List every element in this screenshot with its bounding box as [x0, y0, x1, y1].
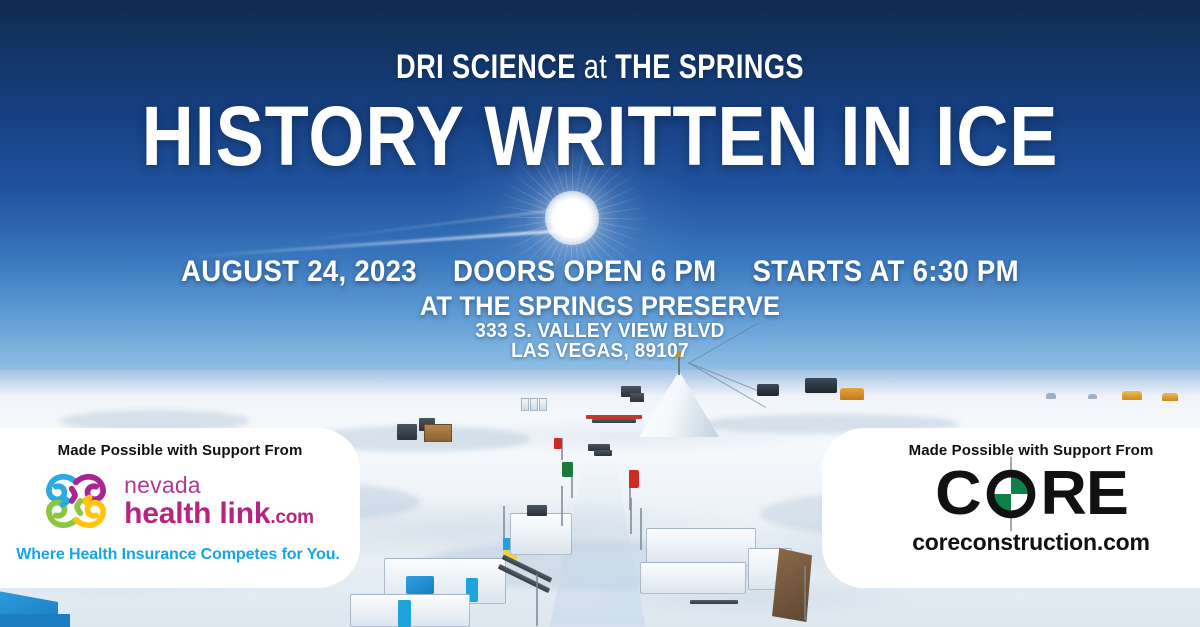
eyebrow-secondary: THE SPRINGS [615, 48, 804, 86]
support-label-right: Made Possible with Support From [822, 428, 1200, 459]
eyebrow-line: DRI SCIENCE at THE SPRINGS [120, 48, 1080, 87]
page-title: HISTORY WRITTEN IN ICE [84, 94, 1116, 178]
event-time-line: AUGUST 24, 2023 DOORS OPEN 6 PM STARTS A… [48, 255, 1152, 289]
core-letter-c: C [935, 463, 981, 525]
core-crosshair-o-icon [981, 464, 1041, 524]
nevada-health-link-lockup[interactable]: nevada health link.com [0, 465, 360, 537]
eyebrow-primary: DRI SCIENCE [396, 48, 576, 86]
event-date: AUGUST 24, 2023 [181, 255, 417, 288]
doors-open: DOORS OPEN 6 PM [453, 255, 716, 288]
brand-tld: .com [270, 507, 314, 528]
brand-line-healthlink: health link.com [124, 499, 314, 529]
sponsor-tagline: Where Health Insurance Competes for You. [0, 546, 360, 564]
nevada-health-link-logo-icon [40, 465, 112, 537]
venue-name: AT THE SPRINGS PRESERVE [36, 291, 1164, 322]
core-letters-re: RE [1040, 463, 1128, 525]
eyebrow-connector: at [584, 48, 607, 86]
sponsor-card-right: Made Possible with Support From C RE cor… [822, 428, 1200, 588]
address-line-2: LAS VEGAS, 89107 [30, 340, 1170, 363]
event-poster: DRI SCIENCE at THE SPRINGS HISTORY WRITT… [0, 0, 1200, 627]
sponsor-url: coreconstruction.com [822, 529, 1200, 556]
brand-line-nevada: nevada [124, 474, 314, 497]
sponsor-card-left: Made Possible with Support From [0, 428, 360, 588]
brand-healthlink-text: health link [124, 497, 270, 530]
nevada-health-link-wordmark: nevada health link.com [124, 474, 314, 529]
start-time: STARTS AT 6:30 PM [752, 255, 1018, 288]
support-label-left: Made Possible with Support From [0, 428, 360, 459]
core-construction-lockup[interactable]: C RE [822, 461, 1200, 527]
